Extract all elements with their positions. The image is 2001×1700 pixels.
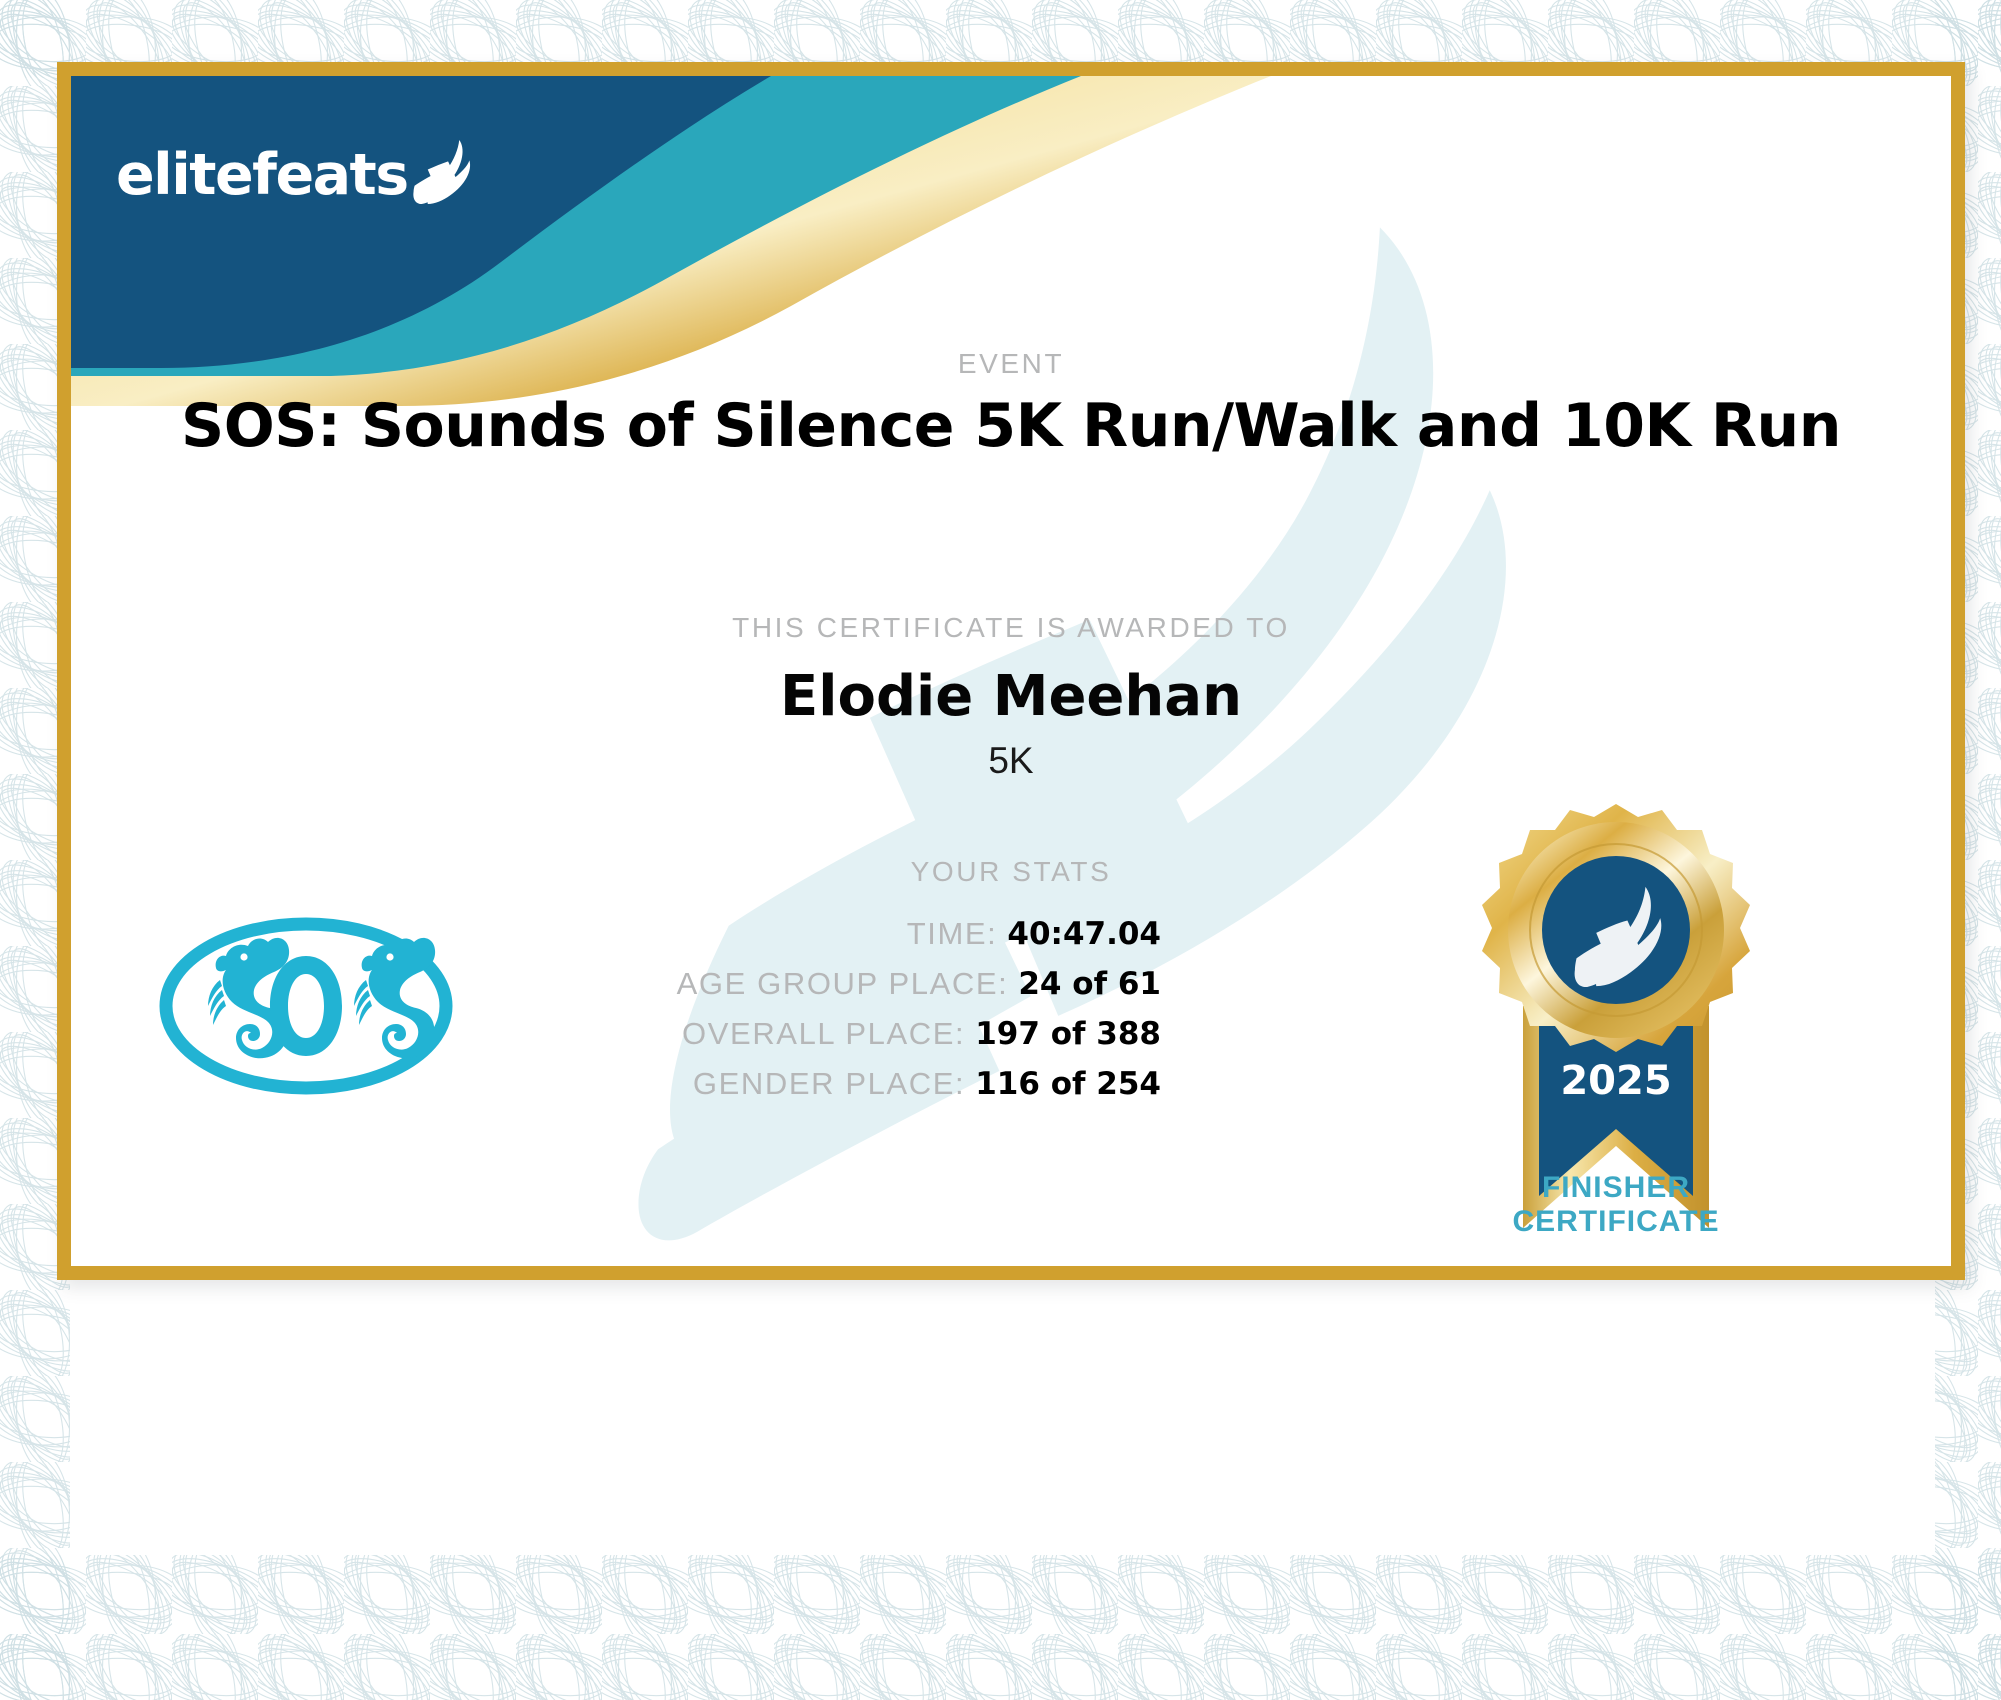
sos-seahorse-logo-icon: [156, 916, 456, 1096]
badge-year-text: 2025: [1560, 1058, 1671, 1104]
stat-key: TIME:: [907, 916, 998, 952]
badge-caption-line1: FINISHER: [1451, 1171, 1781, 1205]
elitefeats-logo: elitefeats: [116, 138, 474, 204]
stat-key: GENDER PLACE:: [693, 1066, 965, 1102]
stat-value: 24 of 61: [1018, 966, 1161, 1002]
badge-caption-line2: CERTIFICATE: [1451, 1205, 1781, 1239]
event-label: EVENT: [71, 348, 1951, 380]
recipient-distance: 5K: [71, 740, 1951, 782]
event-title: SOS: Sounds of Silence 5K Run/Walk and 1…: [71, 391, 1951, 461]
stat-key: OVERALL PLACE:: [682, 1016, 965, 1052]
stat-value: 197 of 388: [975, 1016, 1161, 1052]
elitefeats-wordmark: elitefeats: [116, 147, 408, 204]
badge-caption: FINISHER CERTIFICATE: [1451, 1171, 1781, 1238]
certificate-card: elitefeats EVENT SOS: Sounds of Silence …: [57, 62, 1965, 1280]
stat-value: 116 of 254: [975, 1066, 1161, 1102]
winged-foot-icon: [412, 138, 474, 204]
certificate-page: elitefeats EVENT SOS: Sounds of Silence …: [0, 0, 2001, 1700]
stat-key: AGE GROUP PLACE:: [677, 966, 1009, 1002]
stat-value: 40:47.04: [1007, 916, 1161, 952]
awarded-to-label: THIS CERTIFICATE IS AWARDED TO: [71, 612, 1951, 644]
recipient-name: Elodie Meehan: [71, 664, 1951, 729]
